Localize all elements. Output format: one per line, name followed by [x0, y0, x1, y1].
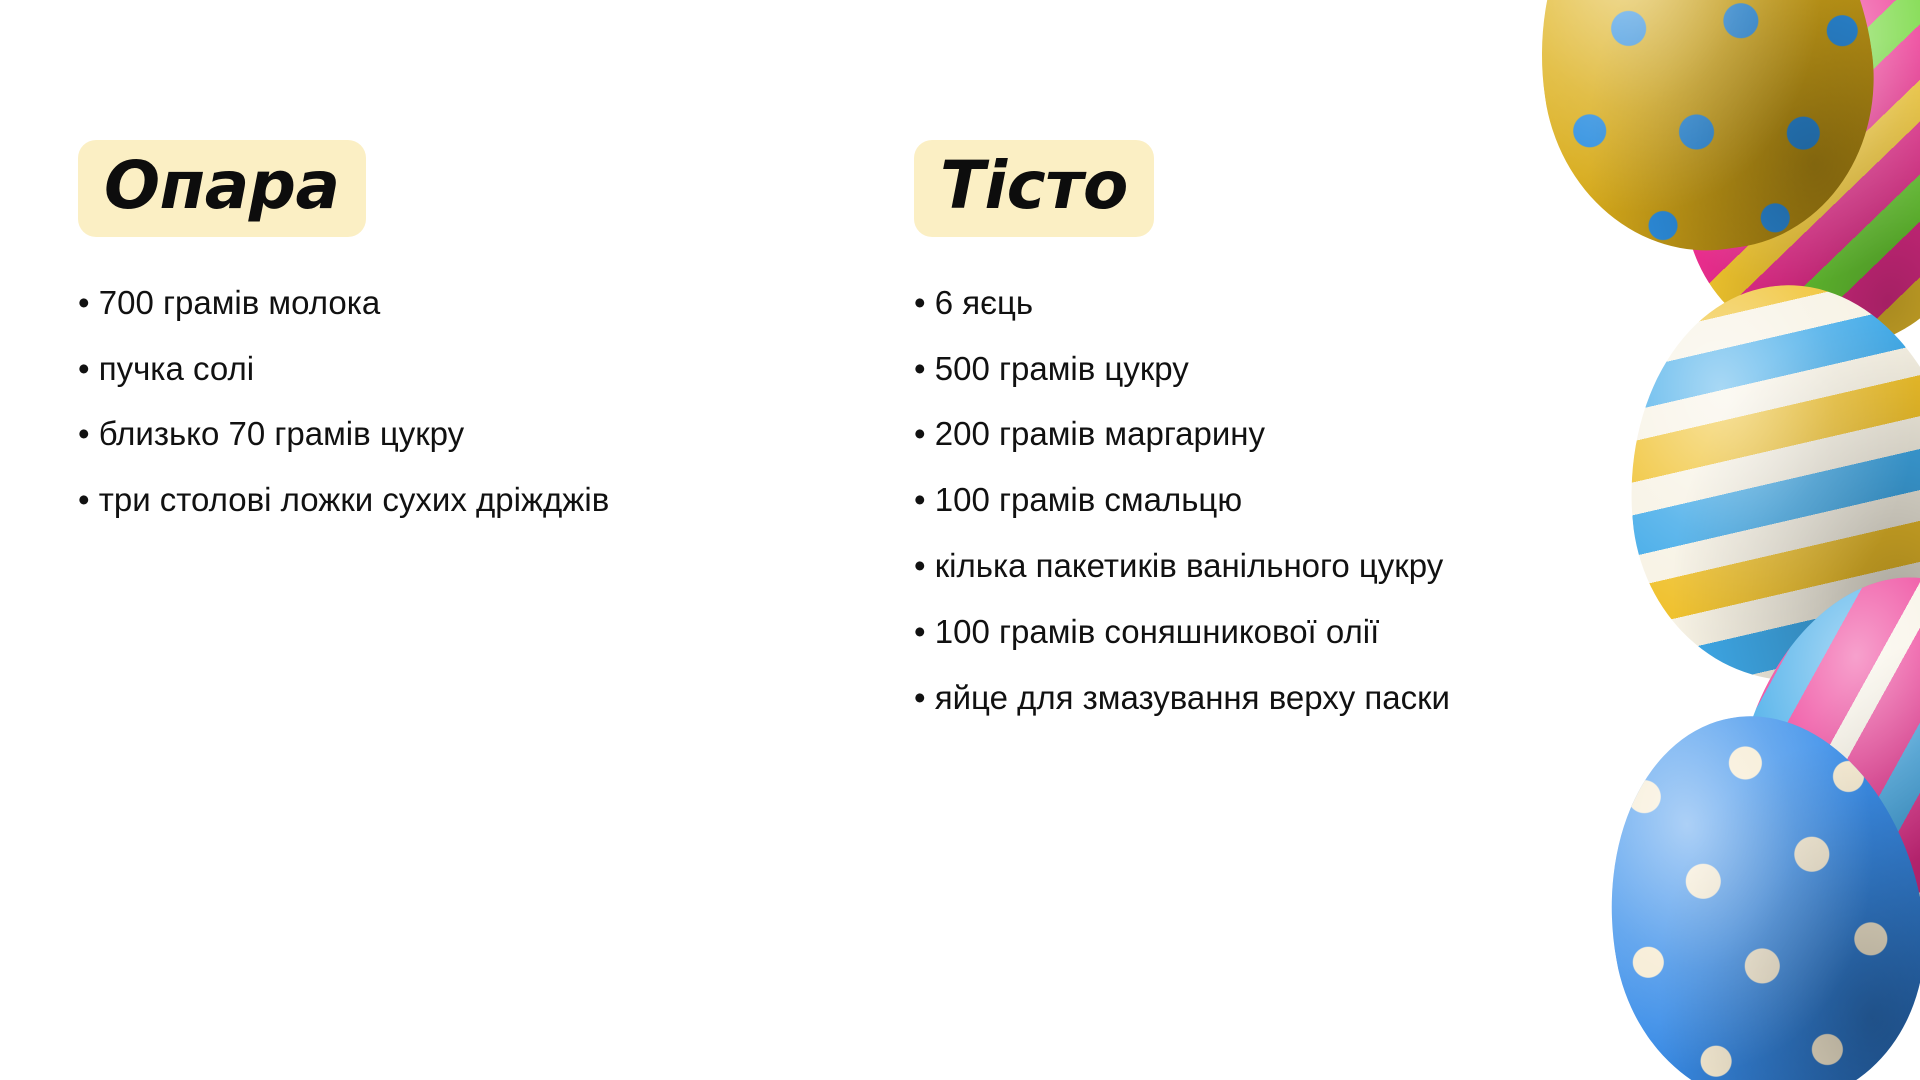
bullet-icon: • [78, 481, 90, 518]
ingredient-text: близько 70 грамів цукру [99, 415, 464, 452]
title-badge-tisto: Тісто [914, 140, 1154, 237]
title-badge-opara: Опара [78, 140, 366, 237]
bullet-icon: • [914, 415, 926, 452]
ingredient-text: три столові ложки сухих дріжджів [99, 481, 610, 518]
bullet-icon: • [914, 350, 926, 387]
column-opara: Опара • 700 грамів молока • пучка солі •… [0, 140, 760, 1080]
list-item: • 200 грамів маргарину [914, 412, 1460, 456]
egg-pink-green-yellow-stripes [1644, 0, 1920, 387]
list-item: • яйце для змазування верху паски [914, 676, 1460, 720]
bullet-icon: • [914, 679, 926, 716]
egg-body [1578, 691, 1920, 1080]
ingredients-columns: Опара • 700 грамів молока • пучка солі •… [0, 0, 1620, 1080]
egg-sheen [1613, 271, 1920, 693]
ingredient-text: 6 яєць [935, 284, 1033, 321]
ingredient-text: 700 грамів молока [99, 284, 381, 321]
bullet-icon: • [914, 284, 926, 321]
list-item: • 6 яєць [914, 281, 1460, 325]
ingredient-text: кілька пакетиків ванільного цукру [935, 547, 1443, 584]
egg-sheen [1578, 691, 1920, 1080]
egg-body [1705, 545, 1920, 974]
ingredient-text: 100 грамів соняшникової олії [935, 613, 1380, 650]
egg-body [1613, 271, 1920, 693]
list-item: • 700 грамів молока [78, 281, 660, 325]
ingredient-text: 200 грамів маргарину [935, 415, 1265, 452]
ingredient-text: пучка солі [99, 350, 254, 387]
bullet-icon: • [914, 547, 926, 584]
ingredient-text: 100 грамів смальцю [935, 481, 1242, 518]
column-tisto: Тісто • 6 яєць • 500 грамів цукру • 200 … [760, 140, 1460, 1080]
bullet-icon: • [914, 613, 926, 650]
list-item: • близько 70 грамів цукру [78, 412, 660, 456]
list-item: • кілька пакетиків ванільного цукру [914, 544, 1460, 588]
ingredient-list-tisto: • 6 яєць • 500 грамів цукру • 200 грамів… [914, 281, 1460, 720]
list-item: • 100 грамів смальцю [914, 478, 1460, 522]
bullet-icon: • [78, 350, 90, 387]
egg-sheen [1705, 545, 1920, 974]
ingredient-text: яйце для змазування верху паски [935, 679, 1450, 716]
list-item: • 100 грамів соняшникової олії [914, 610, 1460, 654]
list-item: • пучка солі [78, 347, 660, 391]
slide-canvas: Опара • 700 грамів молока • пучка солі •… [0, 0, 1920, 1080]
egg-blue-cream-dots [1578, 691, 1920, 1080]
column-title-opara: Опара [104, 154, 340, 219]
egg-pink-blue-stripes [1705, 545, 1920, 974]
bullet-icon: • [78, 415, 90, 452]
ingredient-text: 500 грамів цукру [935, 350, 1189, 387]
bullet-icon: • [914, 481, 926, 518]
column-title-tisto: Тісто [940, 154, 1128, 219]
egg-sheen [1644, 0, 1920, 387]
list-item: • 500 грамів цукру [914, 347, 1460, 391]
list-item: • три столові ложки сухих дріжджів [78, 478, 660, 522]
bullet-icon: • [78, 284, 90, 321]
ingredient-list-opara: • 700 грамів молока • пучка солі • близь… [78, 281, 760, 523]
egg-blue-white-yellow-stripes [1613, 271, 1920, 693]
egg-body [1644, 0, 1920, 387]
